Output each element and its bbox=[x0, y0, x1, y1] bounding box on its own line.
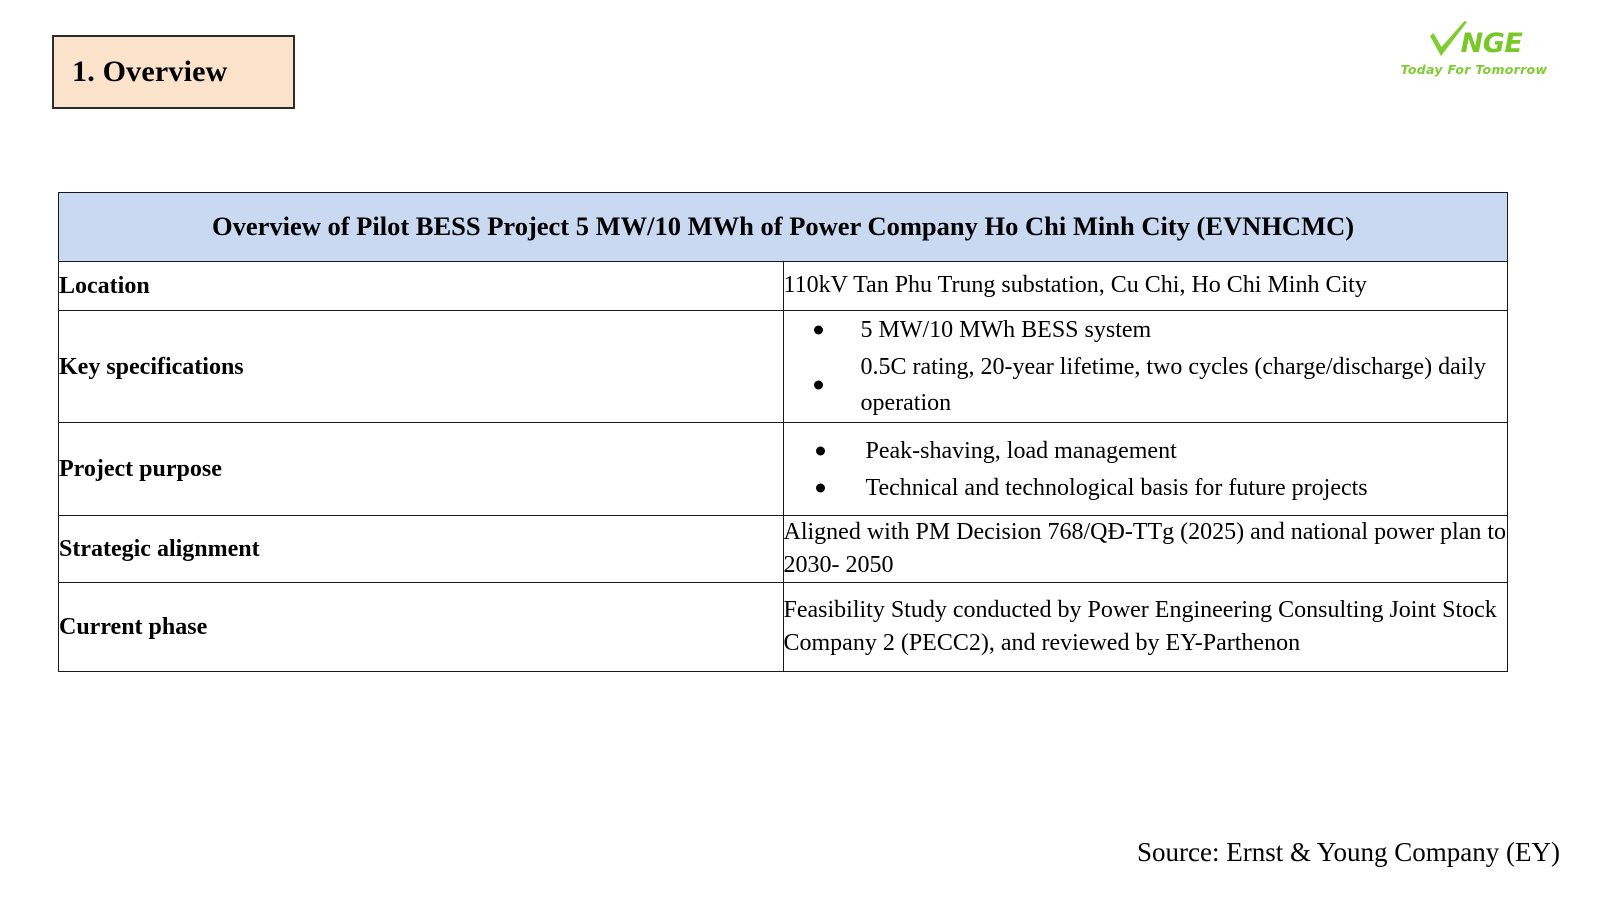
bullet-dot-icon bbox=[816, 446, 825, 455]
bullet-list-key-specifications: 5 MW/10 MWh BESS system 0.5C rating, 20-… bbox=[784, 312, 1508, 421]
source-note: Source: Ernst & Young Company (EY) bbox=[1137, 836, 1560, 868]
row-label-current-phase: Current phase bbox=[59, 583, 784, 672]
row-label-project-purpose: Project purpose bbox=[59, 423, 784, 516]
table-header-title: Overview of Pilot BESS Project 5 MW/10 M… bbox=[59, 193, 1508, 262]
table-header-row: Overview of Pilot BESS Project 5 MW/10 M… bbox=[59, 193, 1508, 262]
list-item-label: 5 MW/10 MWh BESS system bbox=[861, 317, 1152, 343]
bullet-dot-icon bbox=[814, 326, 823, 335]
list-item: Peak-shaving, load management bbox=[784, 433, 1508, 469]
table-row: Current phase Feasibility Study conducte… bbox=[59, 583, 1508, 672]
row-value-current-phase: Feasibility Study conducted by Power Eng… bbox=[783, 583, 1508, 672]
bullet-dot-icon bbox=[814, 381, 823, 390]
list-item-label: Peak-shaving, load management bbox=[866, 438, 1177, 464]
row-label-key-specifications: Key specifications bbox=[59, 311, 784, 423]
table-row: Strategic alignment Aligned with PM Deci… bbox=[59, 516, 1508, 583]
bullet-dot-icon bbox=[816, 483, 825, 492]
table-row: Key specifications 5 MW/10 MWh BESS syst… bbox=[59, 311, 1508, 423]
row-label-location: Location bbox=[59, 262, 784, 311]
list-item: Technical and technological basis for fu… bbox=[784, 470, 1508, 506]
brand-lockup: NGE bbox=[1394, 18, 1554, 60]
row-value-strategic-alignment: Aligned with PM Decision 768/QĐ-TTg (202… bbox=[783, 516, 1508, 583]
brand-tagline: Today For Tomorrow bbox=[1394, 62, 1554, 77]
brand-wordmark: NGE bbox=[1461, 30, 1523, 57]
row-value-location: 110kV Tan Phu Trung substation, Cu Chi, … bbox=[783, 262, 1508, 311]
brand-logo: NGE Today For Tomorrow bbox=[1394, 18, 1554, 77]
row-label-strategic-alignment: Strategic alignment bbox=[59, 516, 784, 583]
row-value-project-purpose: Peak-shaving, load management Technical … bbox=[783, 423, 1508, 516]
list-item: 5 MW/10 MWh BESS system bbox=[784, 312, 1508, 348]
bullet-list-project-purpose: Peak-shaving, load management Technical … bbox=[784, 433, 1508, 506]
section-title-box: 1. Overview bbox=[52, 35, 295, 109]
page-title: 1. Overview bbox=[54, 55, 227, 89]
list-item-label: Technical and technological basis for fu… bbox=[866, 475, 1368, 501]
table-row: Project purpose Peak-shaving, load manag… bbox=[59, 423, 1508, 516]
table-row: Location 110kV Tan Phu Trung substation,… bbox=[59, 262, 1508, 311]
list-item: 0.5C rating, 20-year lifetime, two cycle… bbox=[784, 349, 1508, 421]
row-value-key-specifications: 5 MW/10 MWh BESS system 0.5C rating, 20-… bbox=[783, 311, 1508, 423]
list-item-label: 0.5C rating, 20-year lifetime, two cycle… bbox=[861, 354, 1487, 416]
overview-table: Overview of Pilot BESS Project 5 MW/10 M… bbox=[58, 192, 1508, 672]
